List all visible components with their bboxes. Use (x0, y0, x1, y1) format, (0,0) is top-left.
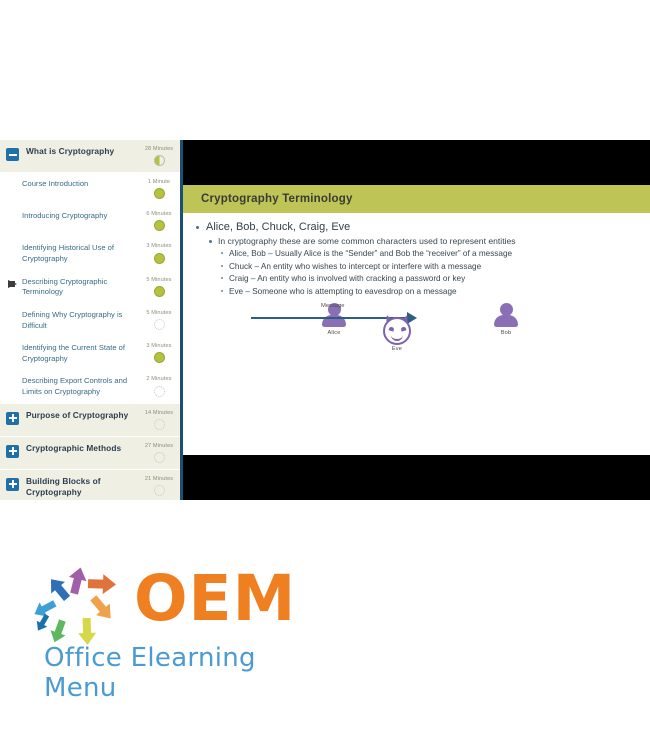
pinwheel-arrows-icon (30, 560, 140, 655)
plus-icon[interactable] (6, 478, 19, 491)
slide-title-bar: Cryptography Terminology (183, 185, 650, 213)
sidebar-section-meta: 27 Minutes (142, 443, 176, 463)
oem-tagline: Office Elearning Menu (44, 643, 322, 703)
sidebar-section-label: Cryptographic Methods (26, 443, 142, 454)
devil-horn-left (384, 314, 392, 322)
lesson-label: Identifying Historical Use of Cryptograp… (6, 243, 142, 264)
sidebar-section-purpose-of-cryptography[interactable]: Purpose of Cryptography 14 Minutes (0, 404, 180, 437)
bullet-list-level2: In cryptography these are some common ch… (206, 236, 636, 297)
lesson-meta: 3 Minutes (142, 343, 176, 363)
lesson-item[interactable]: Introducing Cryptography 6 Minutes (0, 205, 180, 237)
sidebar-section-what-is-cryptography[interactable]: What is Cryptography 28 Minutes (0, 140, 180, 173)
lesson-meta: 3 Minutes (142, 243, 176, 263)
actor-bob: Bob (483, 303, 529, 336)
sidebar-section-meta: 28 Minutes (142, 146, 176, 166)
sidebar-section-label: What is Cryptography (26, 146, 142, 157)
duration-label: 3 Minutes (142, 243, 176, 249)
lesson-label: Describing Cryptographic Terminology (6, 277, 142, 298)
progress-indicator-partial (154, 155, 165, 166)
progress-indicator-incomplete (154, 452, 165, 463)
duration-label: 14 Minutes (142, 410, 176, 416)
course-player: What is Cryptography 28 Minutes Course I… (0, 140, 650, 500)
bullet-level1-text: Alice, Bob, Chuck, Craig, Eve (206, 221, 350, 233)
plus-icon[interactable] (6, 412, 19, 425)
lesson-meta: 2 Minutes (142, 376, 176, 396)
duration-label: 6 Minutes (142, 211, 176, 217)
devil-face-icon (383, 317, 411, 345)
lesson-item[interactable]: Identifying the Current State of Cryptog… (0, 337, 180, 370)
progress-indicator-complete (154, 253, 165, 264)
duration-label: 21 Minutes (142, 476, 176, 482)
lesson-item[interactable]: Defining Why Cryptography is Difficult 5… (0, 304, 180, 337)
oem-logo: OEM Office Elearning Menu (0, 555, 650, 685)
bullet-list-level3: Alice, Bob – Usually Alice is the “Sende… (218, 248, 636, 297)
progress-indicator-complete (154, 286, 165, 297)
progress-indicator-complete (154, 220, 165, 231)
duration-label: 3 Minutes (142, 343, 176, 349)
lesson-label: Course Introduction (6, 179, 142, 190)
actor-eve-label: Eve (374, 346, 420, 352)
actor-bob-label: Bob (483, 330, 529, 336)
lesson-label: Defining Why Cryptography is Difficult (6, 310, 142, 331)
minus-icon[interactable] (6, 148, 19, 161)
bullet-list-level1: Alice, Bob, Chuck, Craig, Eve In cryptog… (193, 220, 636, 297)
devil-mouth (391, 333, 403, 341)
slide-stage: Cryptography Terminology Alice, Bob, Chu… (183, 140, 650, 500)
sidebar-section-meta: 14 Minutes (142, 410, 176, 430)
duration-label: 2 Minutes (142, 376, 176, 382)
message-arrow-label: Message (321, 303, 345, 309)
lesson-list: Course Introduction 1 Minute Introducing… (0, 173, 180, 404)
bullet-level2: In cryptography these are some common ch… (206, 236, 636, 297)
course-outline-sidebar[interactable]: What is Cryptography 28 Minutes Course I… (0, 140, 183, 500)
slide-title-text: Cryptography Terminology (201, 193, 353, 205)
lesson-label: Introducing Cryptography (6, 211, 142, 222)
actor-alice-label: Alice (311, 330, 357, 336)
bullet-level3: Alice, Bob – Usually Alice is the “Sende… (218, 248, 636, 259)
devil-eye-left (388, 326, 394, 331)
cursor-pointer-icon (8, 280, 17, 288)
lesson-meta: 6 Minutes (142, 211, 176, 231)
person-body (494, 315, 518, 327)
bullet-level3: Craig – An entity who is involved with c… (218, 273, 636, 284)
progress-indicator-incomplete (154, 319, 165, 330)
duration-label: 5 Minutes (142, 310, 176, 316)
bullet-level3: Chuck – An entity who wishes to intercep… (218, 261, 636, 272)
devil-eye-right (400, 326, 406, 331)
lesson-item[interactable]: Describing Export Controls and Limits on… (0, 370, 180, 403)
progress-indicator-complete (154, 352, 165, 363)
actor-eve: Eve (374, 317, 420, 352)
person-head (500, 303, 513, 316)
lesson-meta: 1 Minute (142, 179, 176, 199)
sidebar-section-meta: 21 Minutes (142, 476, 176, 496)
lesson-label: Describing Export Controls and Limits on… (6, 376, 142, 397)
bullet-level3: Eve – Someone who is attempting to eaves… (218, 286, 636, 297)
lesson-meta: 5 Minutes (142, 277, 176, 297)
sidebar-section-label: Purpose of Cryptography (26, 410, 142, 421)
progress-indicator-complete (154, 188, 165, 199)
oem-wordmark: OEM (134, 567, 296, 630)
lesson-item[interactable]: Course Introduction 1 Minute (0, 173, 180, 205)
sidebar-section-cryptographic-methods[interactable]: Cryptographic Methods 27 Minutes (0, 437, 180, 470)
duration-label: 1 Minute (142, 179, 176, 185)
slide-body: Alice, Bob, Chuck, Craig, Eve In cryptog… (183, 213, 650, 359)
progress-indicator-incomplete (154, 386, 165, 397)
bullet-level2-text: In cryptography these are some common ch… (218, 236, 516, 246)
duration-label: 27 Minutes (142, 443, 176, 449)
lesson-label: Identifying the Current State of Cryptog… (6, 343, 142, 364)
duration-label: 5 Minutes (142, 277, 176, 283)
duration-label: 28 Minutes (142, 146, 176, 152)
progress-indicator-incomplete (154, 485, 165, 496)
cryptography-actors-diagram: Alice Message Eve (193, 301, 636, 359)
progress-indicator-incomplete (154, 419, 165, 430)
sidebar-section-building-blocks-of-cryptography[interactable]: Building Blocks of Cryptography 21 Minut… (0, 470, 180, 500)
person-icon (493, 303, 519, 329)
lesson-meta: 5 Minutes (142, 310, 176, 330)
lesson-item[interactable]: Identifying Historical Use of Cryptograp… (0, 237, 180, 270)
sidebar-section-label: Building Blocks of Cryptography (26, 476, 142, 498)
bullet-level1: Alice, Bob, Chuck, Craig, Eve In cryptog… (193, 220, 636, 297)
devil-horn-right (402, 314, 410, 322)
plus-icon[interactable] (6, 445, 19, 458)
slide: Cryptography Terminology Alice, Bob, Chu… (183, 185, 650, 455)
lesson-item-current[interactable]: Describing Cryptographic Terminology 5 M… (0, 271, 180, 304)
